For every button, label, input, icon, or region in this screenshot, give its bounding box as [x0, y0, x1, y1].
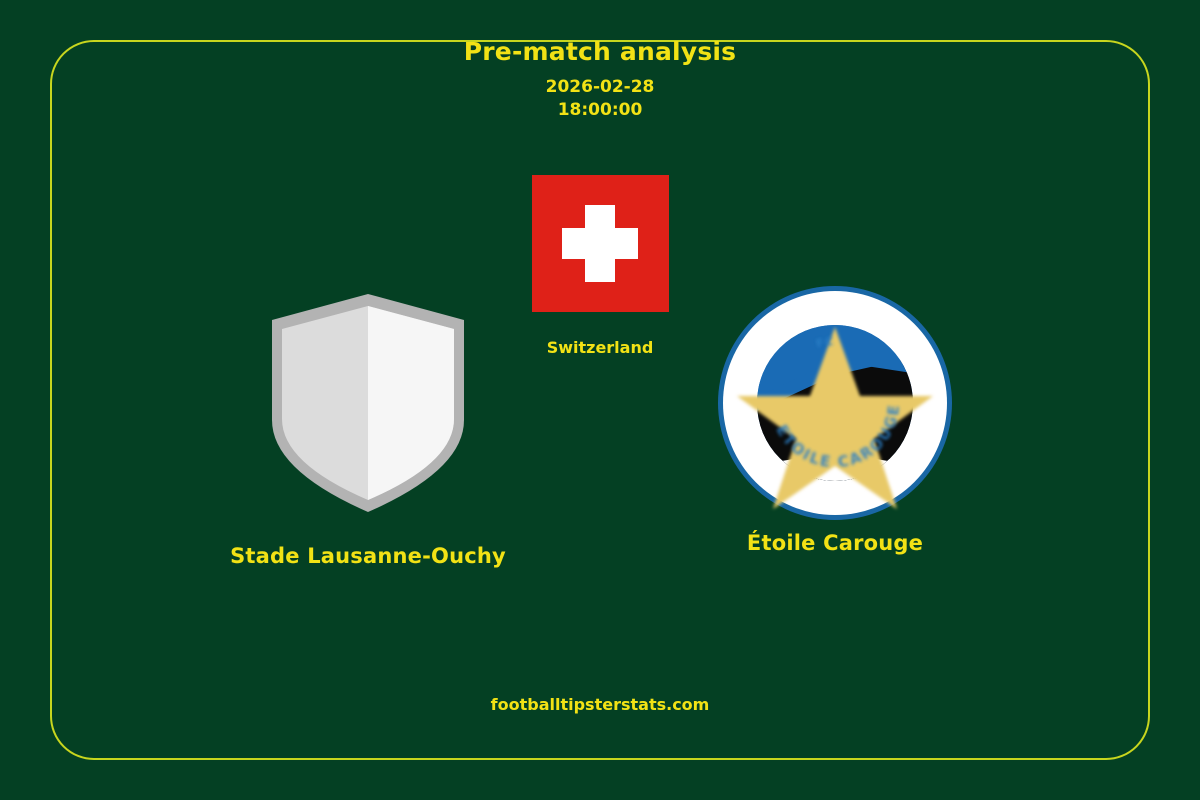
pre-match-analysis-card: Pre-match analysis 2026-02-28 18:00:00 S… — [0, 0, 1200, 800]
footer: footballtipsterstats.com — [0, 695, 1200, 714]
flag-cross-horizontal — [562, 228, 639, 258]
site-url: footballtipsterstats.com — [0, 695, 1200, 714]
team-home-name: Stade Lausanne-Ouchy — [188, 544, 548, 568]
team-away: FC ETOILE CAROUGE Étoile Carouge — [655, 283, 1015, 555]
team-home-logo — [188, 283, 548, 523]
team-away-name: Étoile Carouge — [655, 531, 1015, 555]
swiss-flag-icon — [532, 175, 669, 312]
team-away-logo: FC ETOILE CAROUGE — [655, 283, 1015, 523]
country-flag — [532, 175, 669, 312]
etoile-carouge-crest-icon: FC ETOILE CAROUGE — [715, 283, 955, 523]
placeholder-shield-icon — [268, 292, 468, 514]
team-home: Stade Lausanne-Ouchy — [188, 283, 548, 568]
